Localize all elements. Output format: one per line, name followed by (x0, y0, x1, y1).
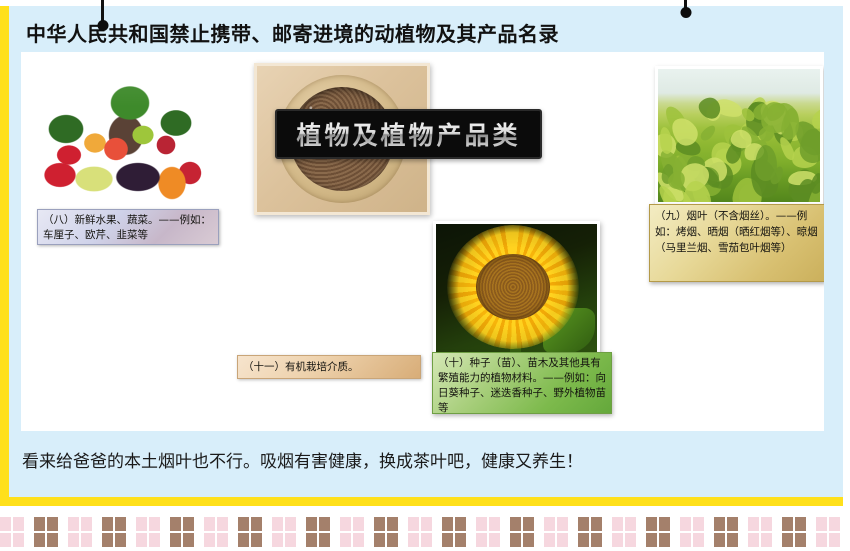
mosaic-cell (102, 533, 113, 547)
mosaic-tile (272, 517, 296, 547)
mosaic-cell (13, 533, 24, 547)
card-left-accent-bar (0, 6, 9, 506)
mosaic-cell (149, 517, 160, 531)
mosaic-cell (714, 533, 725, 547)
mosaic-cell (115, 517, 126, 531)
mosaic-cell (285, 533, 296, 547)
mosaic-cell (136, 533, 147, 547)
mosaic-cell (455, 517, 466, 531)
mosaic-cell (782, 517, 793, 531)
mosaic-cell (68, 517, 79, 531)
mosaic-tile (544, 517, 568, 547)
mosaic-cell (625, 533, 636, 547)
mosaic-cell (47, 533, 58, 547)
mosaic-tile (816, 517, 840, 547)
tobacco-leaf-shape (695, 93, 725, 123)
mosaic-cell (761, 533, 772, 547)
mosaic-cell (442, 517, 453, 531)
mosaic-cell (680, 533, 691, 547)
mosaic-tile (204, 517, 228, 547)
label-item-8: （八）新鲜水果、蔬菜。——例如：车厘子、欧芹、韭菜等 (37, 209, 219, 245)
mosaic-cell (829, 517, 840, 531)
mosaic-cell (795, 517, 806, 531)
footer-mosaic-strip (0, 513, 850, 551)
mosaic-cell (204, 517, 215, 531)
mosaic-cell (795, 533, 806, 547)
pin-right-marker (684, 0, 687, 12)
mosaic-cell (612, 533, 623, 547)
mosaic-tile (34, 517, 58, 547)
mosaic-cell (34, 517, 45, 531)
mosaic-cell (727, 517, 738, 531)
mosaic-tile (612, 517, 636, 547)
mosaic-cell (272, 517, 283, 531)
mosaic-cell (353, 517, 364, 531)
mosaic-tile (170, 517, 194, 547)
mosaic-cell (476, 517, 487, 531)
mosaic-cell (0, 517, 11, 531)
mosaic-cell (510, 533, 521, 547)
mosaic-cell (170, 533, 181, 547)
mosaic-cell (306, 517, 317, 531)
mosaic-cell (272, 533, 283, 547)
mosaic-cell (693, 517, 704, 531)
mosaic-cell (659, 517, 670, 531)
mosaic-tile (374, 517, 398, 547)
mosaic-cell (476, 533, 487, 547)
label-item-11: （十一）有机栽培介质。 (237, 355, 421, 379)
pin-head-icon (680, 7, 691, 18)
mosaic-cell (544, 533, 555, 547)
photo-tobacco-field (655, 66, 823, 205)
mosaic-tile (646, 517, 670, 547)
mosaic-cell (816, 517, 827, 531)
mosaic-cell (204, 533, 215, 547)
mosaic-cell (47, 517, 58, 531)
mosaic-cell (523, 517, 534, 531)
mosaic-cell (374, 517, 385, 531)
mosaic-cell (251, 533, 262, 547)
card-bottom-accent-bar (0, 497, 843, 506)
mosaic-cell (217, 533, 228, 547)
mosaic-tile (68, 517, 92, 547)
mosaic-cell (714, 517, 725, 531)
mosaic-tile (714, 517, 738, 547)
pin-left-marker (101, 0, 104, 26)
mosaic-cell (408, 533, 419, 547)
mosaic-cell (816, 533, 827, 547)
mosaic-cell (34, 533, 45, 547)
mosaic-tile (102, 517, 126, 547)
mosaic-cell (421, 533, 432, 547)
mosaic-cell (13, 517, 24, 531)
mosaic-tile (340, 517, 364, 547)
sunflower-disc-shape (476, 254, 550, 320)
mosaic-cell (761, 517, 772, 531)
mosaic-cell (136, 517, 147, 531)
mosaic-cell (612, 517, 623, 531)
mosaic-cell (421, 517, 432, 531)
label-item-9: （九）烟叶（不含烟丝）。——例如：烤烟、晒烟（晒红烟等）、晾烟（马里兰烟、雪茄包… (649, 204, 824, 282)
mosaic-cell (557, 533, 568, 547)
mosaic-cell (306, 533, 317, 547)
mosaic-cell (387, 533, 398, 547)
mosaic-tile (0, 517, 24, 547)
mosaic-cell (340, 517, 351, 531)
mosaic-cell (455, 533, 466, 547)
mosaic-cell (102, 517, 113, 531)
mosaic-cell (442, 533, 453, 547)
mosaic-cell (591, 533, 602, 547)
mosaic-cell (625, 517, 636, 531)
slide-banner-text: 植物及植物产品类 (296, 116, 520, 152)
mosaic-tile (238, 517, 262, 547)
mosaic-cell (340, 533, 351, 547)
mosaic-cell (183, 517, 194, 531)
tobacco-leaf-shape (754, 145, 776, 181)
mosaic-tile (306, 517, 330, 547)
pin-head-icon (97, 20, 108, 31)
mosaic-cell (578, 533, 589, 547)
mosaic-cell (748, 533, 759, 547)
mosaic-cell (727, 533, 738, 547)
mosaic-cell (183, 533, 194, 547)
mosaic-tile (748, 517, 772, 547)
mosaic-cell (659, 533, 670, 547)
mosaic-cell (0, 533, 11, 547)
mosaic-cell (408, 517, 419, 531)
caption-text: 看来给爸爸的本土烟叶也不行。吸烟有害健康，换成茶叶吧，健康又养生！ (22, 447, 583, 472)
mosaic-cell (251, 517, 262, 531)
slide-panel: 植物及植物产品类 （八）新鲜水果、蔬菜。——例如：车厘子、欧芹、韭菜等 （九）烟… (21, 52, 824, 431)
mosaic-cell (238, 533, 249, 547)
mosaic-tile (510, 517, 534, 547)
mosaic-tile (136, 517, 160, 547)
mosaic-cell (680, 517, 691, 531)
mosaic-cell (387, 517, 398, 531)
mosaic-cell (578, 517, 589, 531)
mosaic-cell (646, 533, 657, 547)
mosaic-cell (646, 517, 657, 531)
mosaic-tile (782, 517, 806, 547)
mosaic-tile (442, 517, 466, 547)
mosaic-cell (693, 533, 704, 547)
mosaic-cell (170, 517, 181, 531)
mosaic-cell (285, 517, 296, 531)
mosaic-cell (782, 533, 793, 547)
mosaic-cell (217, 517, 228, 531)
mosaic-cell (81, 533, 92, 547)
mosaic-cell (523, 533, 534, 547)
mosaic-cell (374, 533, 385, 547)
mosaic-cell (319, 533, 330, 547)
mosaic-tile (680, 517, 704, 547)
mosaic-cell (591, 517, 602, 531)
mosaic-cell (748, 517, 759, 531)
mosaic-tile (578, 517, 602, 547)
photo-sunflower (433, 221, 600, 363)
screenshot-root: 中华人民共和国禁止携带、邮寄进境的动植物及其产品名录 植物及植物产品类 （八）新… (0, 0, 850, 551)
mosaic-cell (115, 533, 126, 547)
mosaic-cell (489, 533, 500, 547)
mosaic-cell (353, 533, 364, 547)
mosaic-tile (408, 517, 432, 547)
mosaic-tile (476, 517, 500, 547)
mosaic-cell (489, 517, 500, 531)
photo-fresh-fruit-vegetables (38, 63, 212, 209)
mosaic-cell (238, 517, 249, 531)
mosaic-cell (829, 533, 840, 547)
slide-banner: 植物及植物产品类 (275, 109, 542, 159)
mosaic-cell (68, 533, 79, 547)
mosaic-cell (557, 517, 568, 531)
mosaic-cell (81, 517, 92, 531)
mosaic-cell (149, 533, 160, 547)
mosaic-cell (319, 517, 330, 531)
tobacco-leaf-shape (698, 123, 718, 143)
mosaic-cell (544, 517, 555, 531)
mosaic-cell (510, 517, 521, 531)
label-item-10: （十）种子（苗）、苗木及其他具有繁殖能力的植物材料。——例如：向日葵种子、迷迭香… (432, 352, 612, 414)
